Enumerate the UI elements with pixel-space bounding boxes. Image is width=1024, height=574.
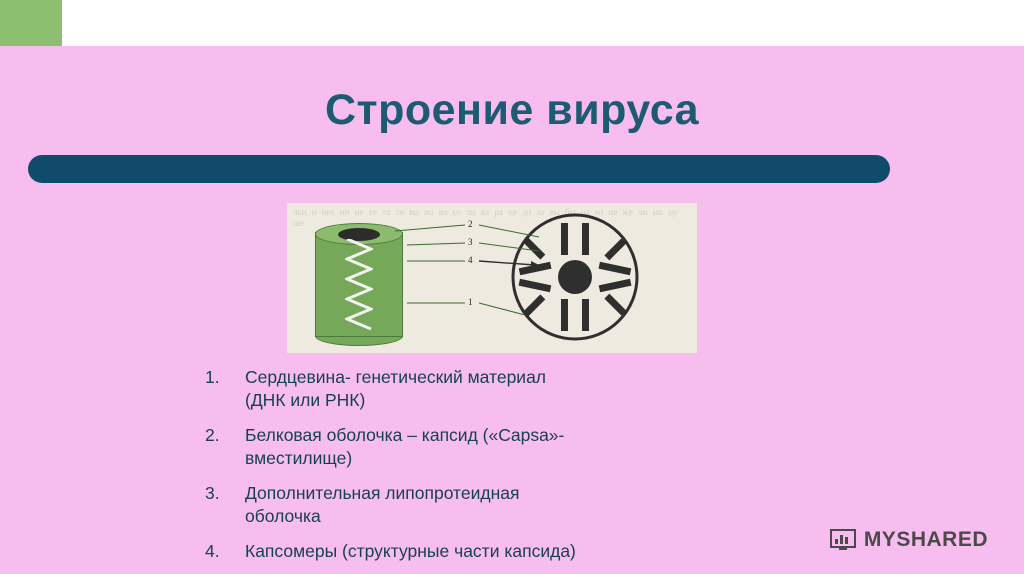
chart-board-icon: [830, 528, 856, 552]
list-item: 2. Белковая оболочка – капсид («Capsa»- …: [205, 424, 965, 470]
list-item-text: Дополнительная липопротеидная оболочка: [245, 482, 965, 528]
watermark-text: MYSHARED: [864, 528, 988, 552]
list-item: 1. Сердцевина- генетический материал (ДН…: [205, 366, 965, 412]
green-corner-band: [0, 0, 62, 46]
list-item-text: Сердцевина- генетический материал (ДНК и…: [245, 366, 965, 412]
list-item-number: 3.: [205, 482, 235, 505]
myshared-watermark: MYSHARED: [830, 528, 988, 552]
figure-leader-lines: [287, 203, 697, 353]
list-item-number: 4.: [205, 540, 235, 563]
page-title: Строение вируса: [62, 86, 962, 135]
figure-label-2: 2: [468, 219, 473, 229]
top-white-strip: [0, 0, 1024, 46]
figure-label-3: 3: [468, 237, 473, 247]
figure-label-1: 1: [468, 297, 473, 307]
title-underline-bar: [28, 155, 890, 183]
list-item-number: 1.: [205, 366, 235, 389]
virus-structure-figure: чьи и нее ин ие те та ти ма но во со ли …: [287, 203, 697, 353]
figure-label-4: 4: [468, 255, 473, 265]
list-item-number: 2.: [205, 424, 235, 447]
slide: Строение вируса чьи и нее ин ие те та ти…: [0, 0, 1024, 574]
list-item: 3. Дополнительная липопротеидная оболочк…: [205, 482, 965, 528]
pink-left-strip: [0, 46, 62, 574]
list-item-text: Белковая оболочка – капсид («Capsa»- вме…: [245, 424, 965, 470]
